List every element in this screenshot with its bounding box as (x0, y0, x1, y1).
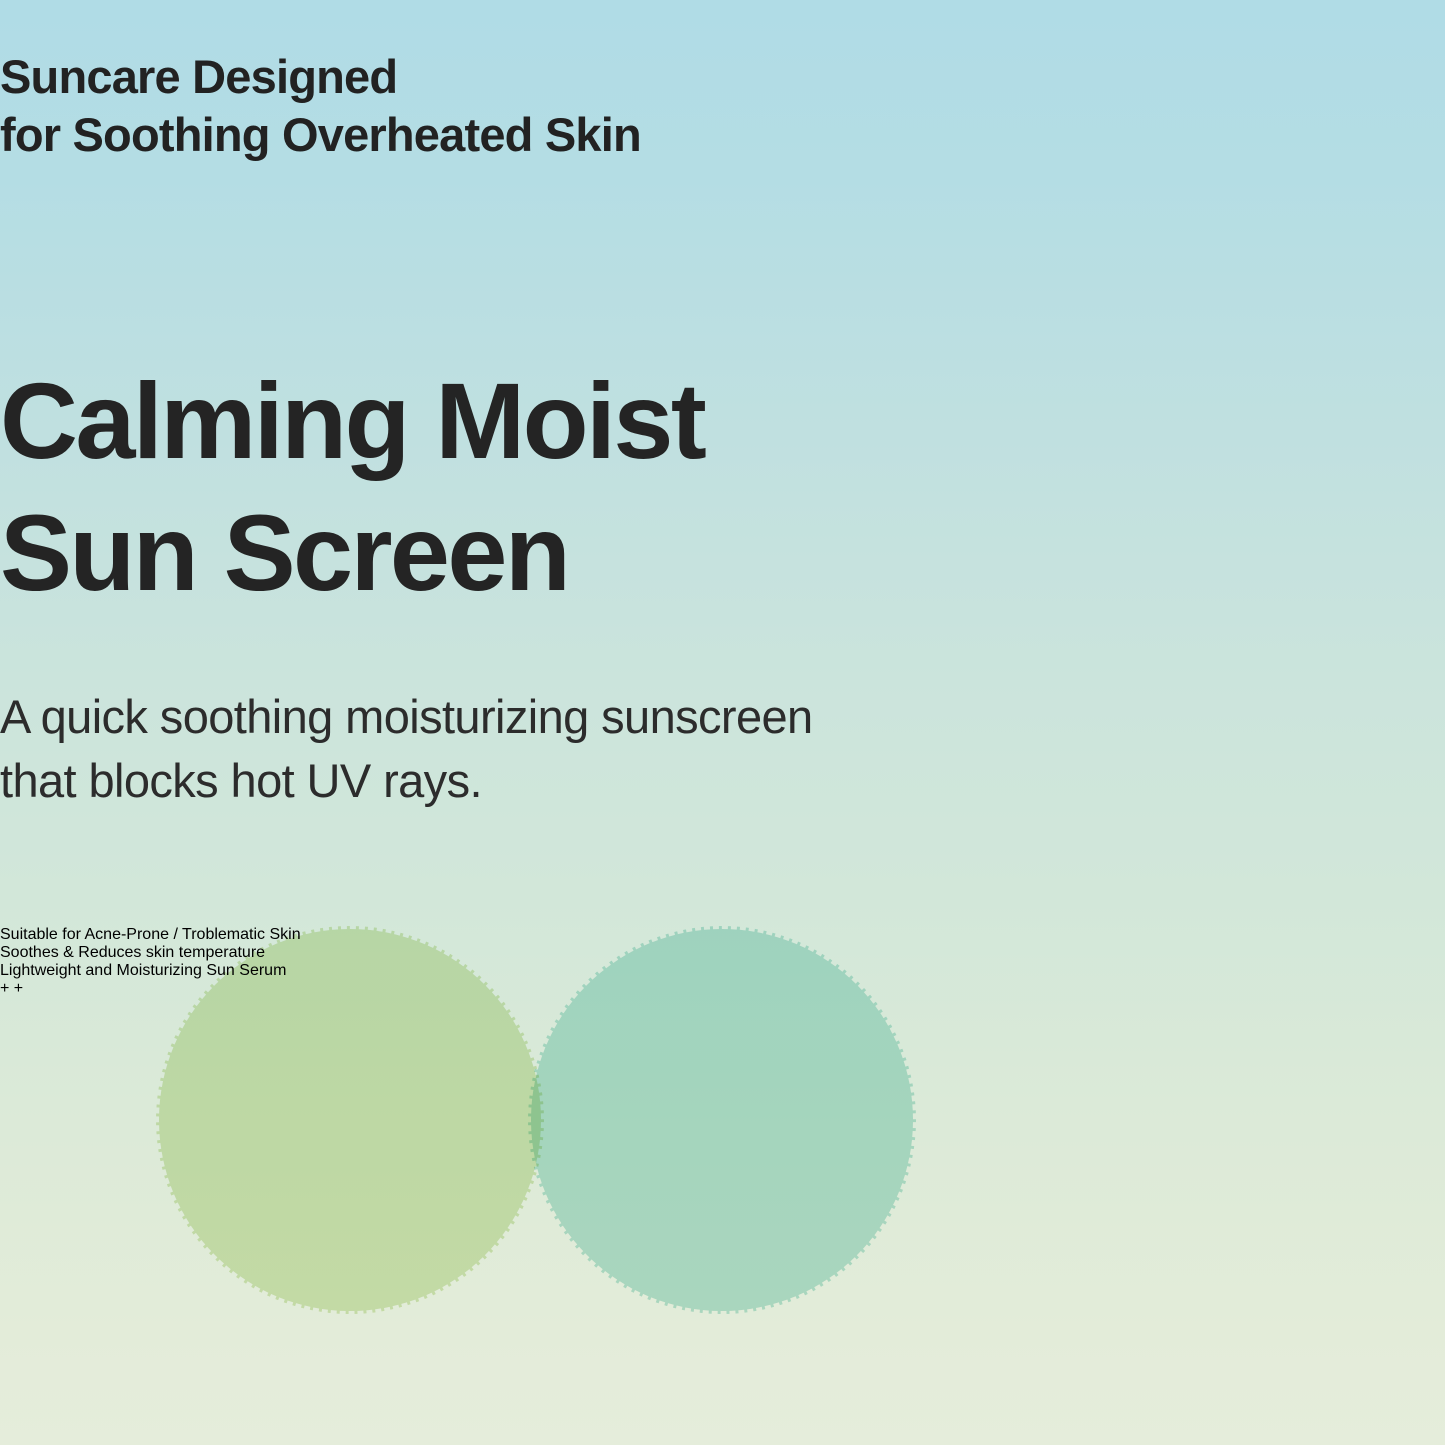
product-headline: Calming Moist Sun Screen (0, 355, 1445, 619)
product-subtitle: A quick soothing moisturizing sunscreen … (0, 685, 1445, 813)
product-banner: Suncare Designed for Soothing Overheated… (0, 0, 1445, 1445)
benefit-circle-soothes-temperature (528, 926, 916, 1314)
eyebrow-line-2: for Soothing Overheated Skin (0, 106, 1445, 164)
benefit-2-line-1: Soothes & (0, 944, 74, 961)
eyebrow-line-1: Suncare Designed (0, 48, 1445, 106)
subtitle-line-1: A quick soothing moisturizing sunscreen (0, 685, 1445, 749)
benefit-venn-diagram: Suitable for Acne-Prone / Troblematic Sk… (0, 926, 1445, 1326)
eyebrow-heading: Suncare Designed for Soothing Overheated… (0, 48, 1445, 164)
headline-line-2: Sun Screen (0, 487, 1445, 619)
plus-icon-1: + (0, 980, 9, 997)
benefit-circle-lightweight-serum (0, 926, 388, 1314)
benefit-1-line-1: Suitable for (0, 926, 81, 943)
headline-line-1: Calming Moist (0, 355, 1445, 487)
subtitle-line-2: that blocks hot UV rays. (0, 749, 1445, 813)
plus-icon-2: + (14, 980, 23, 997)
